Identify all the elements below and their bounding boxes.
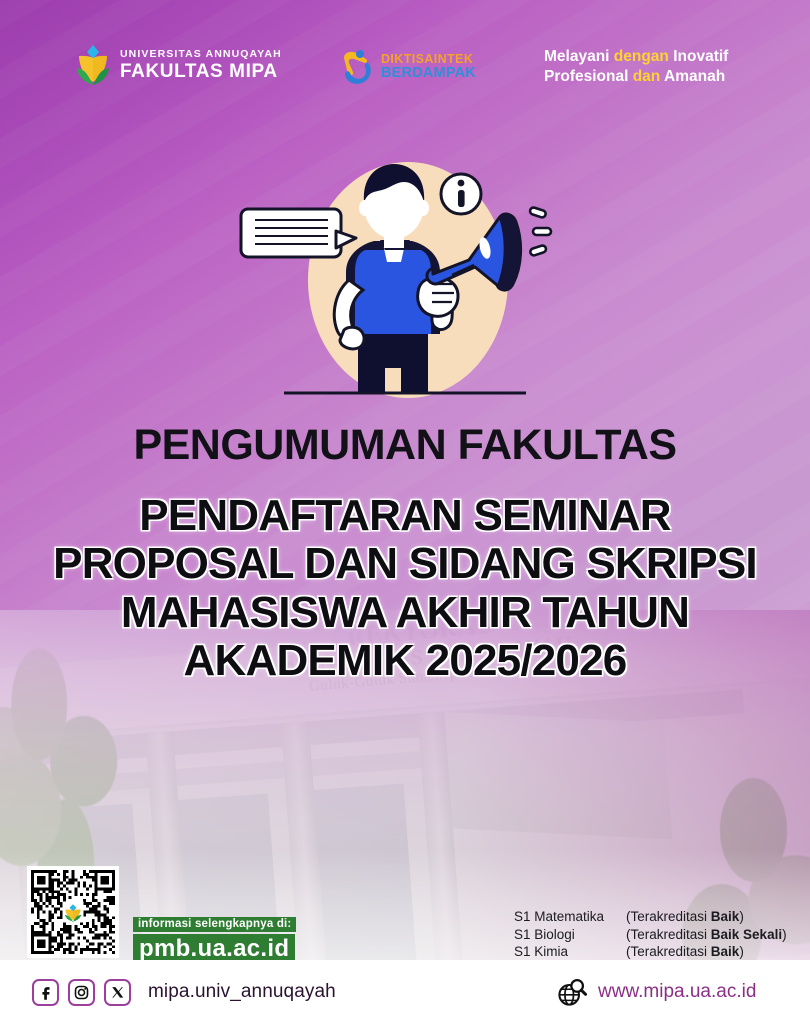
- sound-line-1: [529, 207, 546, 219]
- instagram-icon[interactable]: [68, 979, 95, 1006]
- pmb-info-block[interactable]: informasi selengkapnya di: pmb.ua.ac.id: [133, 914, 296, 966]
- program-name: S1 Matematika: [514, 908, 626, 926]
- diktisaintek-line-1: DIKTISAINTEK: [381, 53, 476, 66]
- qr-code-matrix: [31, 870, 115, 954]
- announcement-poster: REKTORAT UNIVERSITAS ANNUQAYAH Guluk-Gul…: [0, 0, 810, 1024]
- diktisaintek-figure-icon: [340, 48, 374, 86]
- list-item: S1 Kimia (Terakreditasi Baik): [514, 943, 787, 961]
- program-name: S1 Kimia: [514, 943, 626, 961]
- headline-line-2: PROPOSAL DAN SIDANG SKRIPSI: [0, 540, 810, 588]
- website-link[interactable]: www.mipa.ua.ac.id: [556, 978, 756, 1006]
- pmb-caption: informasi selengkapnya di:: [133, 917, 296, 932]
- tagline-highlight-2: dan: [633, 68, 661, 85]
- tagline-line-2: Profesional dan Amanah: [544, 67, 728, 87]
- page-title: PENDAFTARAN SEMINAR PROPOSAL DAN SIDANG …: [0, 492, 810, 686]
- university-logo-text: UNIVERSITAS ANNUQAYAH FAKULTAS MIPA: [120, 49, 282, 81]
- sound-line-3: [529, 245, 546, 257]
- university-name: UNIVERSITAS ANNUQAYAH: [120, 49, 282, 60]
- program-accreditation: (Terakreditasi Baik): [626, 943, 744, 961]
- globe-search-icon: [556, 978, 588, 1006]
- pmb-qr-code[interactable]: [27, 866, 119, 958]
- website-url[interactable]: www.mipa.ua.ac.id: [598, 981, 756, 1003]
- facebook-icon[interactable]: [32, 979, 59, 1006]
- info-badge-icon: [441, 174, 481, 214]
- speech-bubble-icon: [241, 209, 356, 257]
- list-item: S1 Biologi (Terakreditasi Baik Sekali): [514, 926, 787, 944]
- headline-line-3: MAHASISWA AKHIR TAHUN: [0, 589, 810, 637]
- list-item: S1 Matematika (Terakreditasi Baik): [514, 908, 787, 926]
- diktisaintek-logo-text: DIKTISAINTEK BERDAMPAK: [381, 53, 476, 82]
- university-logo: UNIVERSITAS ANNUQAYAH FAKULTAS MIPA: [74, 44, 282, 86]
- instagram-glyph: [74, 985, 89, 1000]
- diktisaintek-logo: DIKTISAINTEK BERDAMPAK: [340, 48, 476, 86]
- social-links: [32, 979, 131, 1006]
- sound-line-2: [533, 228, 551, 235]
- social-handle[interactable]: mipa.univ_annuqayah: [148, 981, 336, 1003]
- poster-header: UNIVERSITAS ANNUQAYAH FAKULTAS MIPA DIKT…: [0, 44, 810, 100]
- program-accreditation: (Terakreditasi Baik Sekali): [626, 926, 787, 944]
- x-twitter-icon[interactable]: [104, 979, 131, 1006]
- headline-line-1: PENDAFTARAN SEMINAR: [0, 492, 810, 540]
- study-program-list: S1 Matematika (Terakreditasi Baik) S1 Bi…: [514, 908, 787, 961]
- facebook-glyph: [38, 985, 53, 1000]
- tulip-logo-icon: [74, 44, 112, 86]
- tagline-highlight-1: dengan: [614, 48, 669, 65]
- tagline-line-1: Melayani dengan Inovatif: [544, 47, 728, 67]
- x-glyph: [110, 985, 125, 1000]
- footer-bar: mipa.univ_annuqayah www.mipa.ua.ac.id: [0, 960, 810, 1024]
- man-with-megaphone-announcement-illustration: [236, 152, 566, 404]
- diktisaintek-line-2: BERDAMPAK: [381, 66, 476, 81]
- program-accreditation: (Terakreditasi Baik): [626, 908, 744, 926]
- headline-line-4: AKADEMIK 2025/2026: [0, 637, 810, 685]
- program-name: S1 Biologi: [514, 926, 626, 944]
- qr-center-logo: [63, 902, 84, 923]
- page-kicker: PENGUMUMAN FAKULTAS: [0, 421, 810, 470]
- faculty-name: FAKULTAS MIPA: [120, 62, 282, 81]
- motto-tagline: Melayani dengan Inovatif Profesional dan…: [544, 47, 728, 88]
